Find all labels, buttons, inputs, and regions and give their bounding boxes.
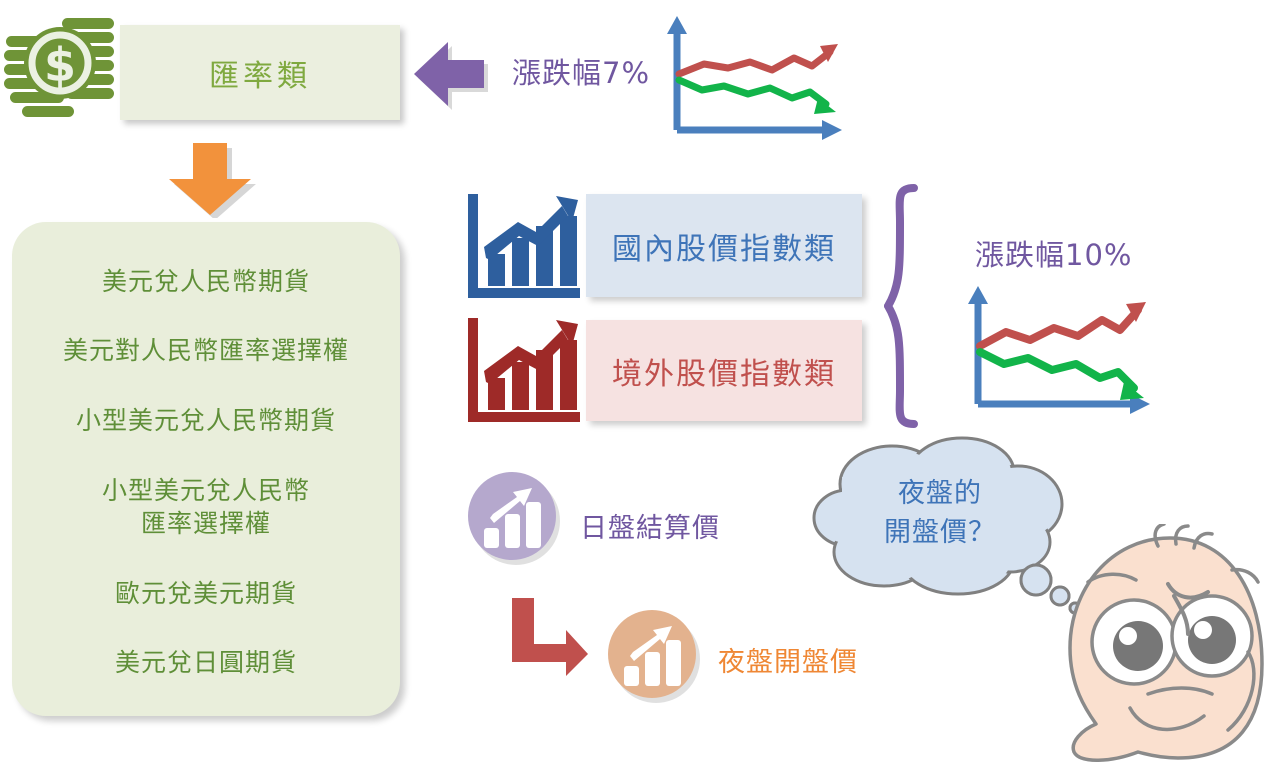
thought-bubble-text: 夜盤的 開盤價？ (855, 474, 1025, 552)
list-item[interactable]: 歐元兌美元期貨 (115, 577, 297, 610)
domestic-index-box[interactable]: 國內股價指數類 (586, 194, 862, 297)
fx-products-list: 美元兌人民幣期貨 美元對人民幣匯率選擇權 小型美元兌人民幣期貨 小型美元兌人民幣… (12, 222, 400, 716)
arrow-elbow-right-icon (506, 596, 590, 680)
night-open-price-icon (606, 608, 702, 704)
offshore-index-label: 境外股價指數類 (612, 349, 836, 393)
bar-chart-up-icon-domestic (466, 192, 582, 300)
price-limit-label-10: 漲跌幅10% (975, 232, 1132, 274)
domestic-index-label: 國內股價指數類 (612, 224, 836, 268)
curly-brace-icon (884, 182, 946, 430)
fx-products-box: 美元兌人民幣期貨 美元對人民幣匯率選擇權 小型美元兌人民幣期貨 小型美元兌人民幣… (12, 222, 400, 716)
offshore-index-box[interactable]: 境外股價指數類 (586, 320, 862, 421)
diagram-canvas: $ 匯率類 美元兌人民幣期貨 美元對人民幣匯率選擇權 小型美元兌人民幣期貨 小型… (0, 0, 1280, 770)
fx-category-label: 匯率類 (209, 51, 311, 95)
price-limit-label-7: 漲跌幅7% (512, 50, 650, 92)
coins-dollar-icon: $ (2, 12, 118, 124)
list-item[interactable]: 美元兌日圓期貨 (115, 646, 297, 679)
list-item[interactable]: 小型美元兌人民幣期貨 (76, 404, 336, 437)
day-settlement-price-icon (466, 470, 562, 566)
arrow-left-icon (412, 40, 490, 110)
svg-text:$: $ (44, 38, 76, 92)
arrow-down-icon (155, 140, 265, 218)
fx-category-box[interactable]: 匯率類 (120, 25, 400, 120)
list-item[interactable]: 美元對人民幣匯率選擇權 (63, 334, 349, 367)
mini-trend-chart-7 (660, 12, 850, 144)
puzzled-face-character (1052, 524, 1280, 770)
night-open-price-label: 夜盤開盤價 (718, 640, 858, 679)
bar-chart-up-icon-offshore (466, 316, 582, 424)
day-settlement-price-label: 日盤結算價 (580, 506, 720, 545)
list-item[interactable]: 美元兌人民幣期貨 (102, 265, 310, 298)
list-item[interactable]: 小型美元兌人民幣 匯率選擇權 (102, 474, 310, 540)
mini-trend-chart-10 (962, 280, 1157, 420)
